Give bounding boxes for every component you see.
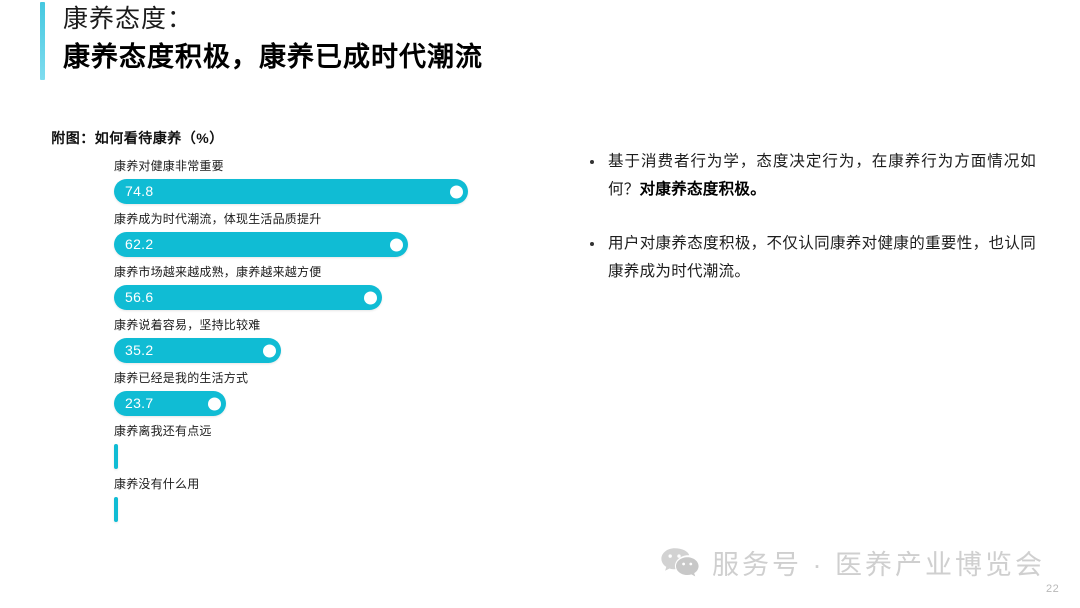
chart-panel: 附图：如何看待康养（%） 康养对健康非常重要74.8康养成为时代潮流，体现生活品… (0, 120, 540, 540)
bar-fill (114, 444, 118, 469)
footer-brand: 服务号 · 医养产业博览会 (660, 543, 1045, 582)
bar-track: 56.6 (114, 285, 382, 310)
bar-chart: 康养对健康非常重要74.8康养成为时代潮流，体现生活品质提升62.2康养市场越来… (114, 158, 534, 529)
bar-row: 康养离我还有点远 (114, 423, 534, 476)
slide-header: 康养态度： 康养态度积极，康养已成时代潮流 (0, 0, 640, 92)
bar-end-knob-icon (208, 397, 221, 410)
bar-end-knob-icon (390, 238, 403, 251)
bar-value-label: 74.8 (125, 179, 153, 204)
bar-track (114, 444, 118, 469)
note-item: 用户对康养态度积极，不仅认同康养对健康的重要性，也认同康养成为时代潮流。 (586, 230, 1036, 286)
bar-category-label: 康养离我还有点远 (114, 423, 212, 439)
bar-value-label: 23.7 (125, 391, 153, 416)
accent-bar-decoration (40, 2, 45, 80)
bar-category-label: 康养市场越来越成熟，康养越来越方便 (114, 264, 321, 280)
bar-category-label: 康养没有什么用 (114, 476, 199, 492)
bar-end-knob-icon (364, 291, 377, 304)
bar-fill: 74.8 (114, 179, 468, 204)
slide-canvas: 康养态度： 康养态度积极，康养已成时代潮流 附图：如何看待康养（%） 康养对健康… (0, 0, 1080, 608)
bar-end-knob-icon (263, 344, 276, 357)
bar-value-label: 62.2 (125, 232, 153, 257)
note-text: 用户对康养态度积极，不仅认同康养对健康的重要性，也认同康养成为时代潮流。 (608, 235, 1036, 280)
footer-brand-text: 服务号 · 医养产业博览会 (712, 543, 1045, 582)
notes-list: 基于消费者行为学，态度决定行为，在康养行为方面情况如何？对康养态度积极。用户对康… (586, 148, 1036, 312)
wechat-icon (660, 546, 700, 580)
title-block: 康养态度： 康养态度积极，康养已成时代潮流 (63, 3, 483, 75)
page-title: 康养态度积极，康养已成时代潮流 (63, 39, 483, 75)
bar-category-label: 康养已经是我的生活方式 (114, 370, 248, 386)
bar-row: 康养说着容易，坚持比较难35.2 (114, 317, 534, 370)
bar-category-label: 康养对健康非常重要 (114, 158, 224, 174)
bar-track: 62.2 (114, 232, 408, 257)
bar-track: 35.2 (114, 338, 281, 363)
bar-track: 74.8 (114, 179, 468, 204)
bar-fill: 56.6 (114, 285, 382, 310)
bar-value-label: 56.6 (125, 285, 153, 310)
bar-row: 康养市场越来越成熟，康养越来越方便56.6 (114, 264, 534, 317)
bar-row: 康养没有什么用 (114, 476, 534, 529)
bar-track (114, 497, 118, 522)
chart-title: 附图：如何看待康养（%） (0, 128, 540, 148)
bar-row: 康养成为时代潮流，体现生活品质提升62.2 (114, 211, 534, 264)
bar-end-knob-icon (450, 185, 463, 198)
page-eyebrow: 康养态度： (63, 3, 483, 35)
bar-track: 23.7 (114, 391, 226, 416)
bar-fill: 35.2 (114, 338, 281, 363)
bar-fill (114, 497, 118, 522)
bar-fill: 62.2 (114, 232, 408, 257)
bar-row: 康养对健康非常重要74.8 (114, 158, 534, 211)
bar-row: 康养已经是我的生活方式23.7 (114, 370, 534, 423)
bar-fill: 23.7 (114, 391, 226, 416)
bar-category-label: 康养成为时代潮流，体现生活品质提升 (114, 211, 321, 227)
bar-category-label: 康养说着容易，坚持比较难 (114, 317, 260, 333)
note-item: 基于消费者行为学，态度决定行为，在康养行为方面情况如何？对康养态度积极。 (586, 148, 1036, 204)
bar-value-label: 35.2 (125, 338, 153, 363)
page-number: 22 (1046, 583, 1059, 595)
note-emphasis: 对康养态度积极。 (640, 181, 766, 198)
